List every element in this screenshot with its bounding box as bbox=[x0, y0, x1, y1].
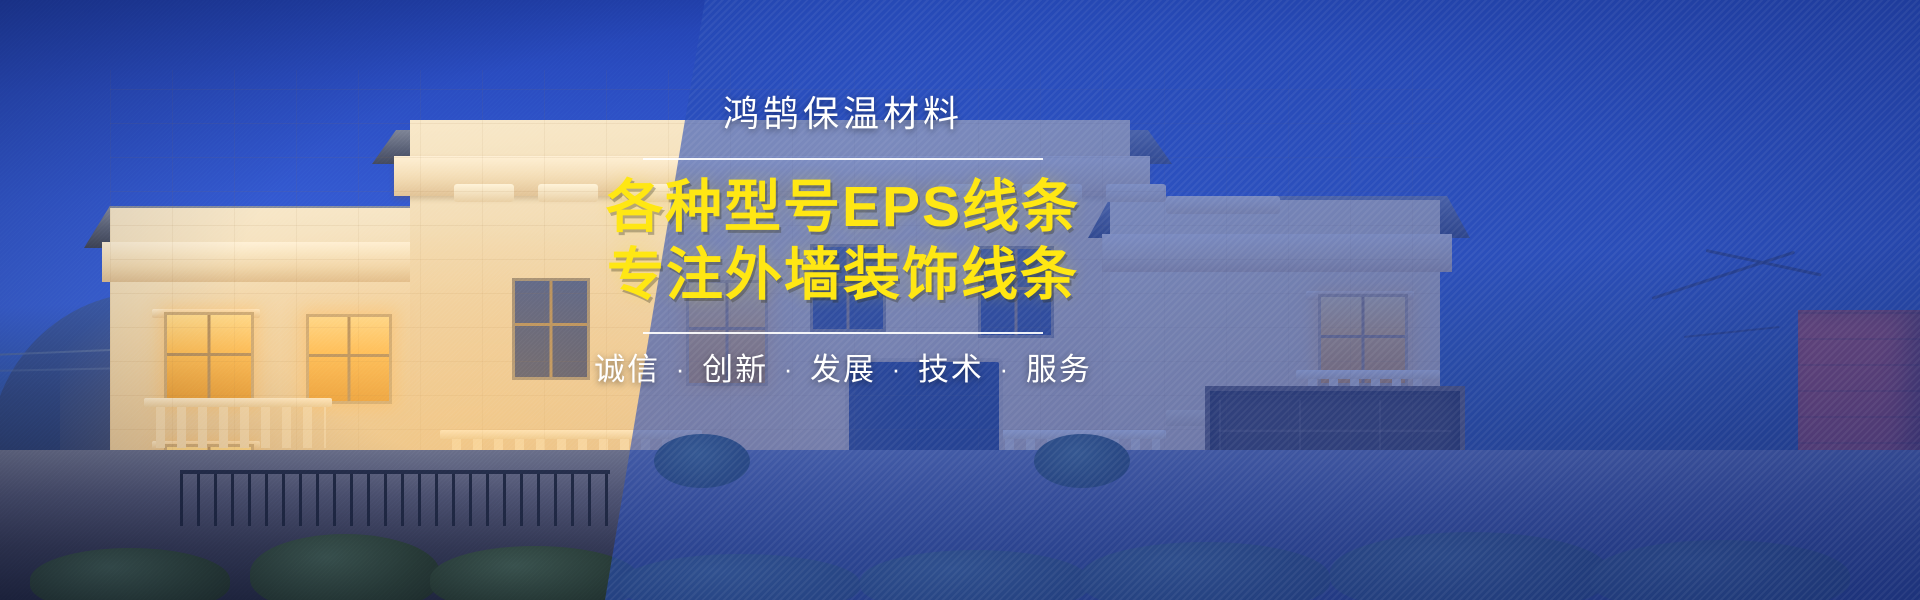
tagline-separator: · bbox=[671, 354, 692, 384]
headline-line-1: 各种型号EPS线条 bbox=[583, 176, 1103, 240]
tagline: 诚信 · 创新 · 发展 · 技术 · 服务 bbox=[583, 354, 1103, 385]
tagline-item-5: 服务 bbox=[1026, 352, 1092, 387]
planter-shrub bbox=[1034, 434, 1130, 488]
window-dark bbox=[512, 278, 590, 380]
divider-rule-bottom bbox=[643, 332, 1043, 334]
headline-line-2: 专注外墙装饰线条 bbox=[583, 244, 1103, 308]
headline-block: 各种型号EPS线条 专注外墙装饰线条 bbox=[583, 176, 1103, 308]
planter bbox=[660, 482, 744, 534]
company-subtitle: 鸿鹄保温材料 bbox=[583, 96, 1103, 132]
promotional-banner: 鸿鹄保温材料 各种型号EPS线条 专注外墙装饰线条 诚信 · 创新 · 发展 ·… bbox=[0, 0, 1920, 600]
window-lit bbox=[306, 314, 392, 404]
divider-rule-top bbox=[643, 158, 1043, 160]
tagline-separator: · bbox=[779, 354, 800, 384]
left-wing-cornice bbox=[102, 242, 434, 282]
iron-railing bbox=[180, 470, 610, 526]
tagline-item-2: 创新 bbox=[702, 352, 768, 387]
balustrade bbox=[150, 406, 326, 448]
tagline-separator: · bbox=[887, 354, 908, 384]
tagline-item-3: 发展 bbox=[810, 352, 876, 387]
window-lit bbox=[164, 312, 254, 404]
tagline-item-4: 技术 bbox=[918, 352, 984, 387]
planter bbox=[1040, 482, 1124, 534]
tagline-item-1: 诚信 bbox=[594, 352, 660, 387]
planter-shrub bbox=[654, 434, 750, 488]
banner-copy-block: 鸿鹄保温材料 各种型号EPS线条 专注外墙装饰线条 诚信 · 创新 · 发展 ·… bbox=[583, 96, 1103, 385]
tagline-separator: · bbox=[995, 354, 1016, 384]
